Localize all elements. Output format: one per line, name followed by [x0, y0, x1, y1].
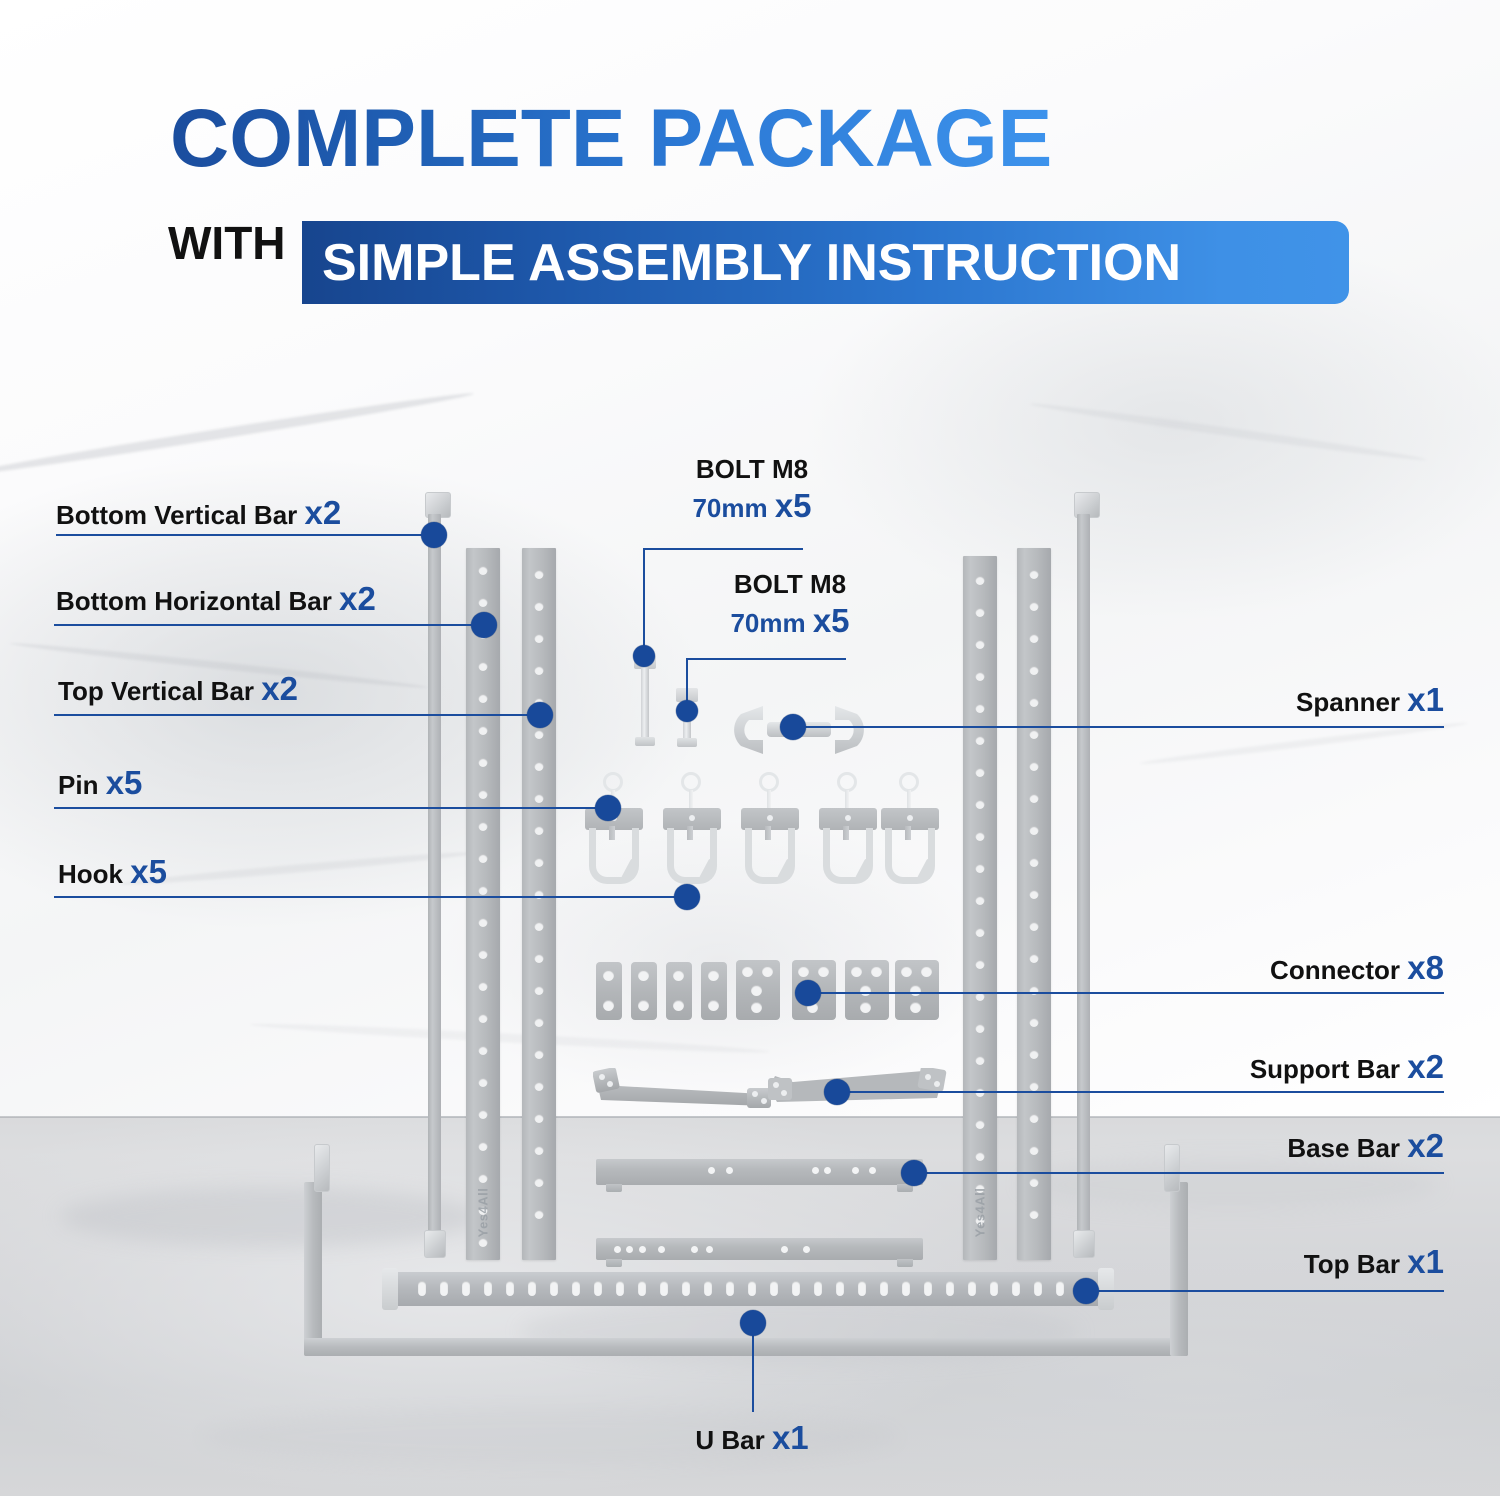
label-support-bar: Support Bar x2 [1250, 1049, 1444, 1086]
wall-floor-seam [0, 1116, 1500, 1118]
top-bar-cap-left [382, 1268, 398, 1310]
leader-dot-bolt-first [633, 645, 655, 667]
label-connector: Connector x8 [1270, 950, 1444, 987]
hook-assembly-5 [881, 782, 939, 902]
leader-dot-top-vertical-bar [527, 702, 553, 728]
banner-text: SIMPLE ASSEMBLY INSTRUCTION [302, 237, 1181, 289]
leader-line-bolt-second-v [686, 658, 688, 702]
leader-dot-hook [674, 884, 700, 910]
leader-line-bolt-first-v [643, 548, 645, 660]
leader-dot-base-bar [901, 1160, 927, 1186]
page-title: COMPLETE PACKAGE [170, 98, 1052, 180]
connector-plate-5 [736, 960, 780, 1020]
label-bolt-m8-first-text: BOLT M8 [696, 454, 808, 484]
leader-dot-pin [595, 795, 621, 821]
label-bolt-m8-second-text: BOLT M8 [734, 569, 846, 599]
connector-plate-7 [845, 960, 889, 1020]
connector-plate-2 [631, 962, 657, 1020]
leader-dot-spanner [780, 714, 806, 740]
label-u-bar-text: U Bar [695, 1425, 764, 1455]
leader-line-bolt-second-h [686, 658, 846, 660]
label-base-bar: Base Bar x2 [1287, 1128, 1444, 1165]
connector-plate-4 [701, 962, 727, 1020]
label-support-bar-qty: x2 [1407, 1048, 1444, 1085]
connector-plate-1 [596, 962, 622, 1020]
subtitle-banner: SIMPLE ASSEMBLY INSTRUCTION [302, 221, 1349, 304]
label-u-bar: U Bar x1 [652, 1420, 852, 1457]
hook-assembly-4 [819, 782, 877, 902]
leader-line-connector [814, 992, 1444, 994]
label-bolt-m8-first: BOLT M8 70mm x5 [652, 455, 852, 525]
top-bar [392, 1272, 1104, 1306]
leader-dot-support-bar [824, 1079, 850, 1105]
label-u-bar-qty: x1 [772, 1419, 809, 1456]
leader-line-base-bar [920, 1172, 1444, 1174]
label-pin-text: Pin [58, 770, 98, 800]
leader-line-spanner [800, 726, 1444, 728]
label-bottom-vertical-bar: Bottom Vertical Bar x2 [56, 495, 341, 532]
label-bottom-vertical-bar-qty: x2 [305, 494, 342, 531]
leader-line-bolt-first-h [643, 548, 803, 550]
label-connector-text: Connector [1270, 955, 1400, 985]
brand-watermark-left: Yes4All [476, 1188, 491, 1238]
label-top-bar-qty: x1 [1407, 1243, 1444, 1280]
label-bolt-m8-second: BOLT M8 70mm x5 [690, 570, 890, 640]
connector-plate-3 [666, 962, 692, 1020]
header: COMPLETE PACKAGE WITH SIMPLE ASSEMBLY IN… [0, 0, 1500, 340]
label-bottom-horizontal-bar-text: Bottom Horizontal Bar [56, 586, 332, 616]
label-spanner-qty: x1 [1407, 681, 1444, 718]
label-pin: Pin x5 [58, 765, 142, 802]
label-top-vertical-bar: Top Vertical Bar x2 [58, 671, 298, 708]
label-hook-text: Hook [58, 859, 123, 889]
leader-dot-bolt-second [676, 700, 698, 722]
label-pin-qty: x5 [106, 764, 143, 801]
label-bolt-m8-second-size: 70mm [730, 608, 805, 638]
label-spanner: Spanner x1 [1296, 682, 1444, 719]
leader-dot-top-bar [1073, 1278, 1099, 1304]
hook-assembly-3 [741, 782, 799, 902]
label-bottom-vertical-bar-text: Bottom Vertical Bar [56, 500, 297, 530]
label-bottom-horizontal-bar-qty: x2 [339, 580, 376, 617]
support-bar-1 [593, 1068, 773, 1110]
leader-line-pin [54, 807, 606, 809]
leader-line-bottom-horizontal-bar [54, 624, 484, 626]
label-base-bar-qty: x2 [1407, 1127, 1444, 1164]
base-bar-1 [596, 1159, 923, 1185]
leader-line-top-vertical-bar [54, 714, 540, 716]
base-bar-2 [596, 1238, 923, 1260]
brand-watermark-right: Yes4All [973, 1188, 988, 1238]
connector-plate-8 [895, 960, 939, 1020]
label-bolt-m8-first-qty: x5 [775, 487, 812, 524]
leader-dot-u-bar [740, 1310, 766, 1336]
label-base-bar-text: Base Bar [1287, 1133, 1400, 1163]
label-top-bar: Top Bar x1 [1304, 1244, 1444, 1281]
leader-dot-bottom-horizontal-bar [471, 612, 497, 638]
leader-dot-connector [795, 980, 821, 1006]
perforated-bar-right-a: Yes4All [963, 556, 997, 1260]
label-bolt-m8-second-qty: x5 [813, 602, 850, 639]
leader-dot-bottom-vertical-bar [421, 522, 447, 548]
label-spanner-text: Spanner [1296, 687, 1400, 717]
infographic-canvas: COMPLETE PACKAGE WITH SIMPLE ASSEMBLY IN… [0, 0, 1500, 1496]
leader-line-top-bar [1094, 1290, 1444, 1292]
label-hook-qty: x5 [130, 853, 167, 890]
label-hook: Hook x5 [58, 854, 167, 891]
leader-line-hook [54, 896, 684, 898]
perforated-bar-right-b [1017, 548, 1051, 1260]
bolt-m8-70mm-first [634, 655, 656, 747]
support-bar-2 [767, 1068, 947, 1110]
with-word: WITH [168, 220, 286, 266]
label-top-bar-text: Top Bar [1304, 1249, 1400, 1279]
label-top-vertical-bar-qty: x2 [261, 670, 298, 707]
leader-line-bottom-vertical-bar [56, 534, 434, 536]
top-bar-cap-right [1098, 1268, 1114, 1310]
label-connector-qty: x8 [1407, 949, 1444, 986]
label-bottom-horizontal-bar: Bottom Horizontal Bar x2 [56, 581, 376, 618]
label-bolt-m8-first-size: 70mm [692, 493, 767, 523]
label-support-bar-text: Support Bar [1250, 1054, 1400, 1084]
leader-line-support-bar [845, 1091, 1444, 1093]
label-top-vertical-bar-text: Top Vertical Bar [58, 676, 254, 706]
perforated-bar-left-a: Yes4All [466, 548, 500, 1260]
perforated-bar-left-b [522, 548, 556, 1260]
